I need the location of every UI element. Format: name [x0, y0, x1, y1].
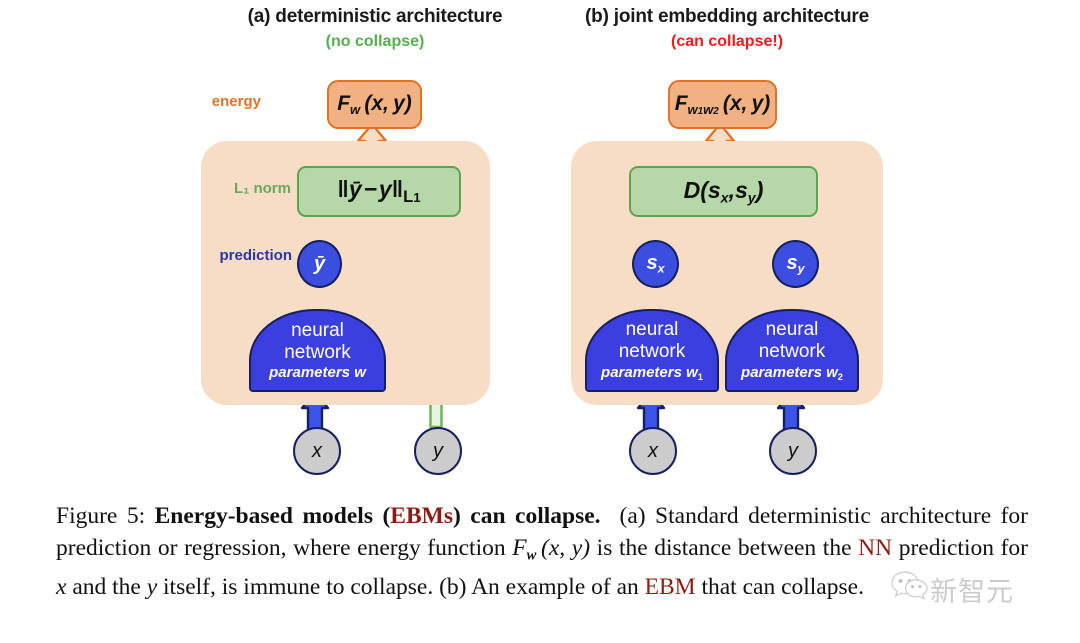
caption-bold-lead-1: Energy-based models (	[155, 503, 391, 529]
arrow-layer	[0, 0, 1080, 495]
energy-box-b-formula: Fw1w2 (x, y)	[675, 93, 771, 117]
nn-b1-line2: network	[619, 341, 686, 363]
nn-b1-params: parameters w1	[601, 364, 703, 383]
input-x-b-label: x	[648, 440, 658, 463]
embedding-node-sx: sx	[632, 240, 679, 288]
distance-box-a: ‖ȳ − y‖L1	[297, 166, 461, 217]
panel-a-title: (a) deterministic architecture	[190, 6, 560, 28]
nn-b2-params: parameters w2	[741, 364, 843, 383]
energy-box-a-formula: Fw (x, y)	[337, 93, 412, 116]
energy-box-a: Fw (x, y)	[327, 80, 422, 129]
caption-hl-ebms: EBMs	[390, 503, 453, 529]
caption-hl-nn: NN	[858, 535, 892, 561]
caption-math-x: x	[56, 574, 66, 600]
nn-a-line2: network	[284, 342, 351, 364]
caption-hl-ebm: EBM	[645, 574, 696, 600]
input-y-b-label: y	[788, 440, 798, 463]
panel-b-subtitle: (can collapse!)	[542, 33, 912, 51]
nn-b2-line1: neural	[766, 319, 819, 341]
energy-label-a: energy	[186, 93, 261, 110]
input-x-a: x	[293, 427, 341, 475]
figure-caption: Figure 5: Energy-based models (EBMs) can…	[56, 500, 1028, 603]
input-x-a-label: x	[312, 440, 322, 463]
figure-area: (a) deterministic architecture (no colla…	[0, 0, 1080, 495]
prediction-node-a-label: ȳ	[314, 253, 325, 276]
caption-text-2: is the distance between the	[590, 535, 858, 561]
energy-box-b: Fw1w2 (x, y)	[668, 80, 777, 129]
prediction-label-a: prediction	[206, 247, 292, 264]
distance-box-b: D(sx,sy)	[629, 166, 818, 217]
input-y-a: y	[414, 427, 462, 475]
caption-math-F: Fw (x, y)	[512, 535, 590, 561]
caption-math-y: y	[147, 574, 157, 600]
nn-a-line1: neural	[291, 320, 344, 342]
caption-bold-lead-2: ) can collapse.	[453, 503, 601, 529]
nn-b1-line1: neural	[626, 319, 679, 341]
embedding-node-sx-label: sx	[646, 252, 664, 276]
caption-text-4: and the	[66, 574, 146, 600]
distance-box-a-formula: ‖ȳ − y‖L1	[337, 176, 420, 207]
l1-norm-label-a: L₁ norm	[206, 180, 291, 197]
prediction-node-a: ȳ	[297, 240, 342, 288]
distance-box-b-formula: D(sx,sy)	[684, 177, 764, 206]
input-y-a-label: y	[433, 440, 443, 463]
panel-a-subtitle: (no collapse)	[190, 33, 560, 51]
nn-b2-line2: network	[759, 341, 826, 363]
caption-text-3: prediction for	[892, 535, 1028, 561]
embedding-node-sy-label: sy	[786, 252, 804, 276]
caption-text-6: that can collapse.	[696, 574, 864, 600]
input-x-b: x	[629, 427, 677, 475]
caption-text-5: itself, is immune to collapse. (b) An ex…	[157, 574, 645, 600]
nn-a-params: parameters w	[269, 364, 366, 383]
panel-b-title: (b) joint embedding architecture	[542, 6, 912, 28]
caption-label: Figure 5:	[56, 503, 145, 529]
input-y-b: y	[769, 427, 817, 475]
embedding-node-sy: sy	[772, 240, 819, 288]
